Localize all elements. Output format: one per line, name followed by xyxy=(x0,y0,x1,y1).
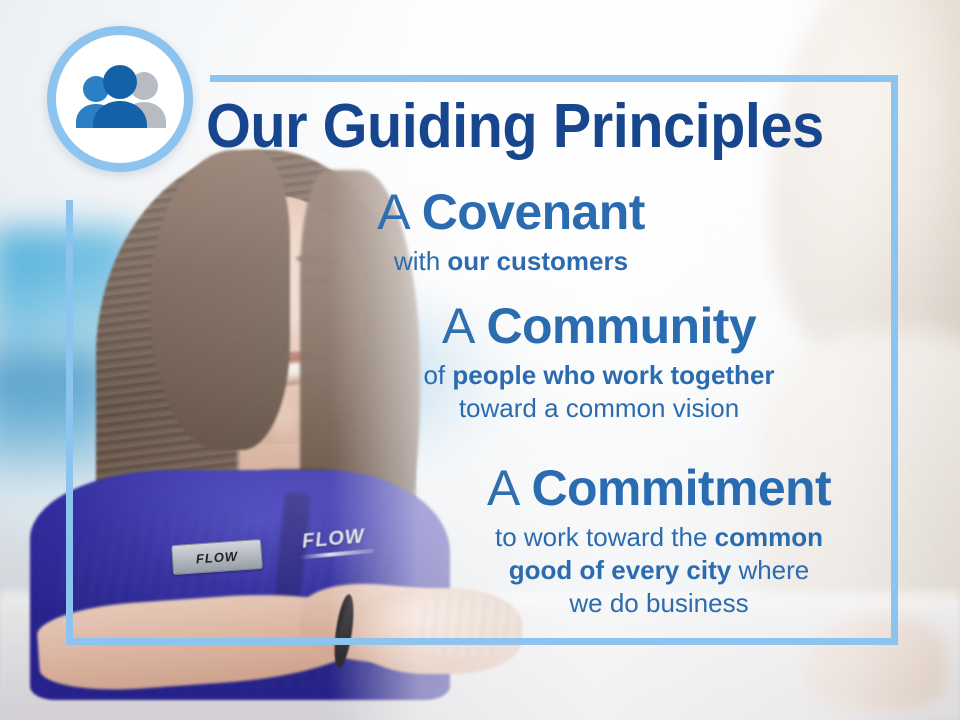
principle-community-keyword: Community xyxy=(486,298,756,354)
badge-circle xyxy=(47,26,193,172)
name-badge-logo-text: FLOW xyxy=(195,549,238,565)
principle-commitment-keyword: Commitment xyxy=(531,460,831,516)
principle-covenant-detail: with our customers xyxy=(316,245,706,278)
principle-commitment-article: A xyxy=(487,460,531,516)
principle-commitment-heading: A Commitment xyxy=(440,462,878,515)
principle-community-detail: of people who work togethertoward a comm… xyxy=(374,359,824,425)
page-title: Our Guiding Principles xyxy=(206,96,820,158)
principle-commitment: A Commitment to work toward the commongo… xyxy=(440,462,878,619)
principle-covenant-heading: A Covenant xyxy=(316,186,706,239)
principle-community-article: A xyxy=(442,298,486,354)
people-group-icon xyxy=(68,62,172,136)
principle-community: A Community of people who work togethert… xyxy=(374,300,824,425)
principle-commitment-detail: to work toward the commongood of every c… xyxy=(440,521,878,619)
customer-hand xyxy=(808,616,948,712)
principle-community-heading: A Community xyxy=(374,300,824,353)
principle-covenant-keyword: Covenant xyxy=(422,184,645,240)
name-badge: FLOW xyxy=(171,539,263,575)
blurred-display-panel-lower xyxy=(0,355,110,475)
principle-covenant-article: A xyxy=(377,184,421,240)
principle-covenant: A Covenant with our customers xyxy=(316,186,706,278)
guiding-principles-graphic: FLOW FLOW Our Guiding xyxy=(0,0,960,720)
